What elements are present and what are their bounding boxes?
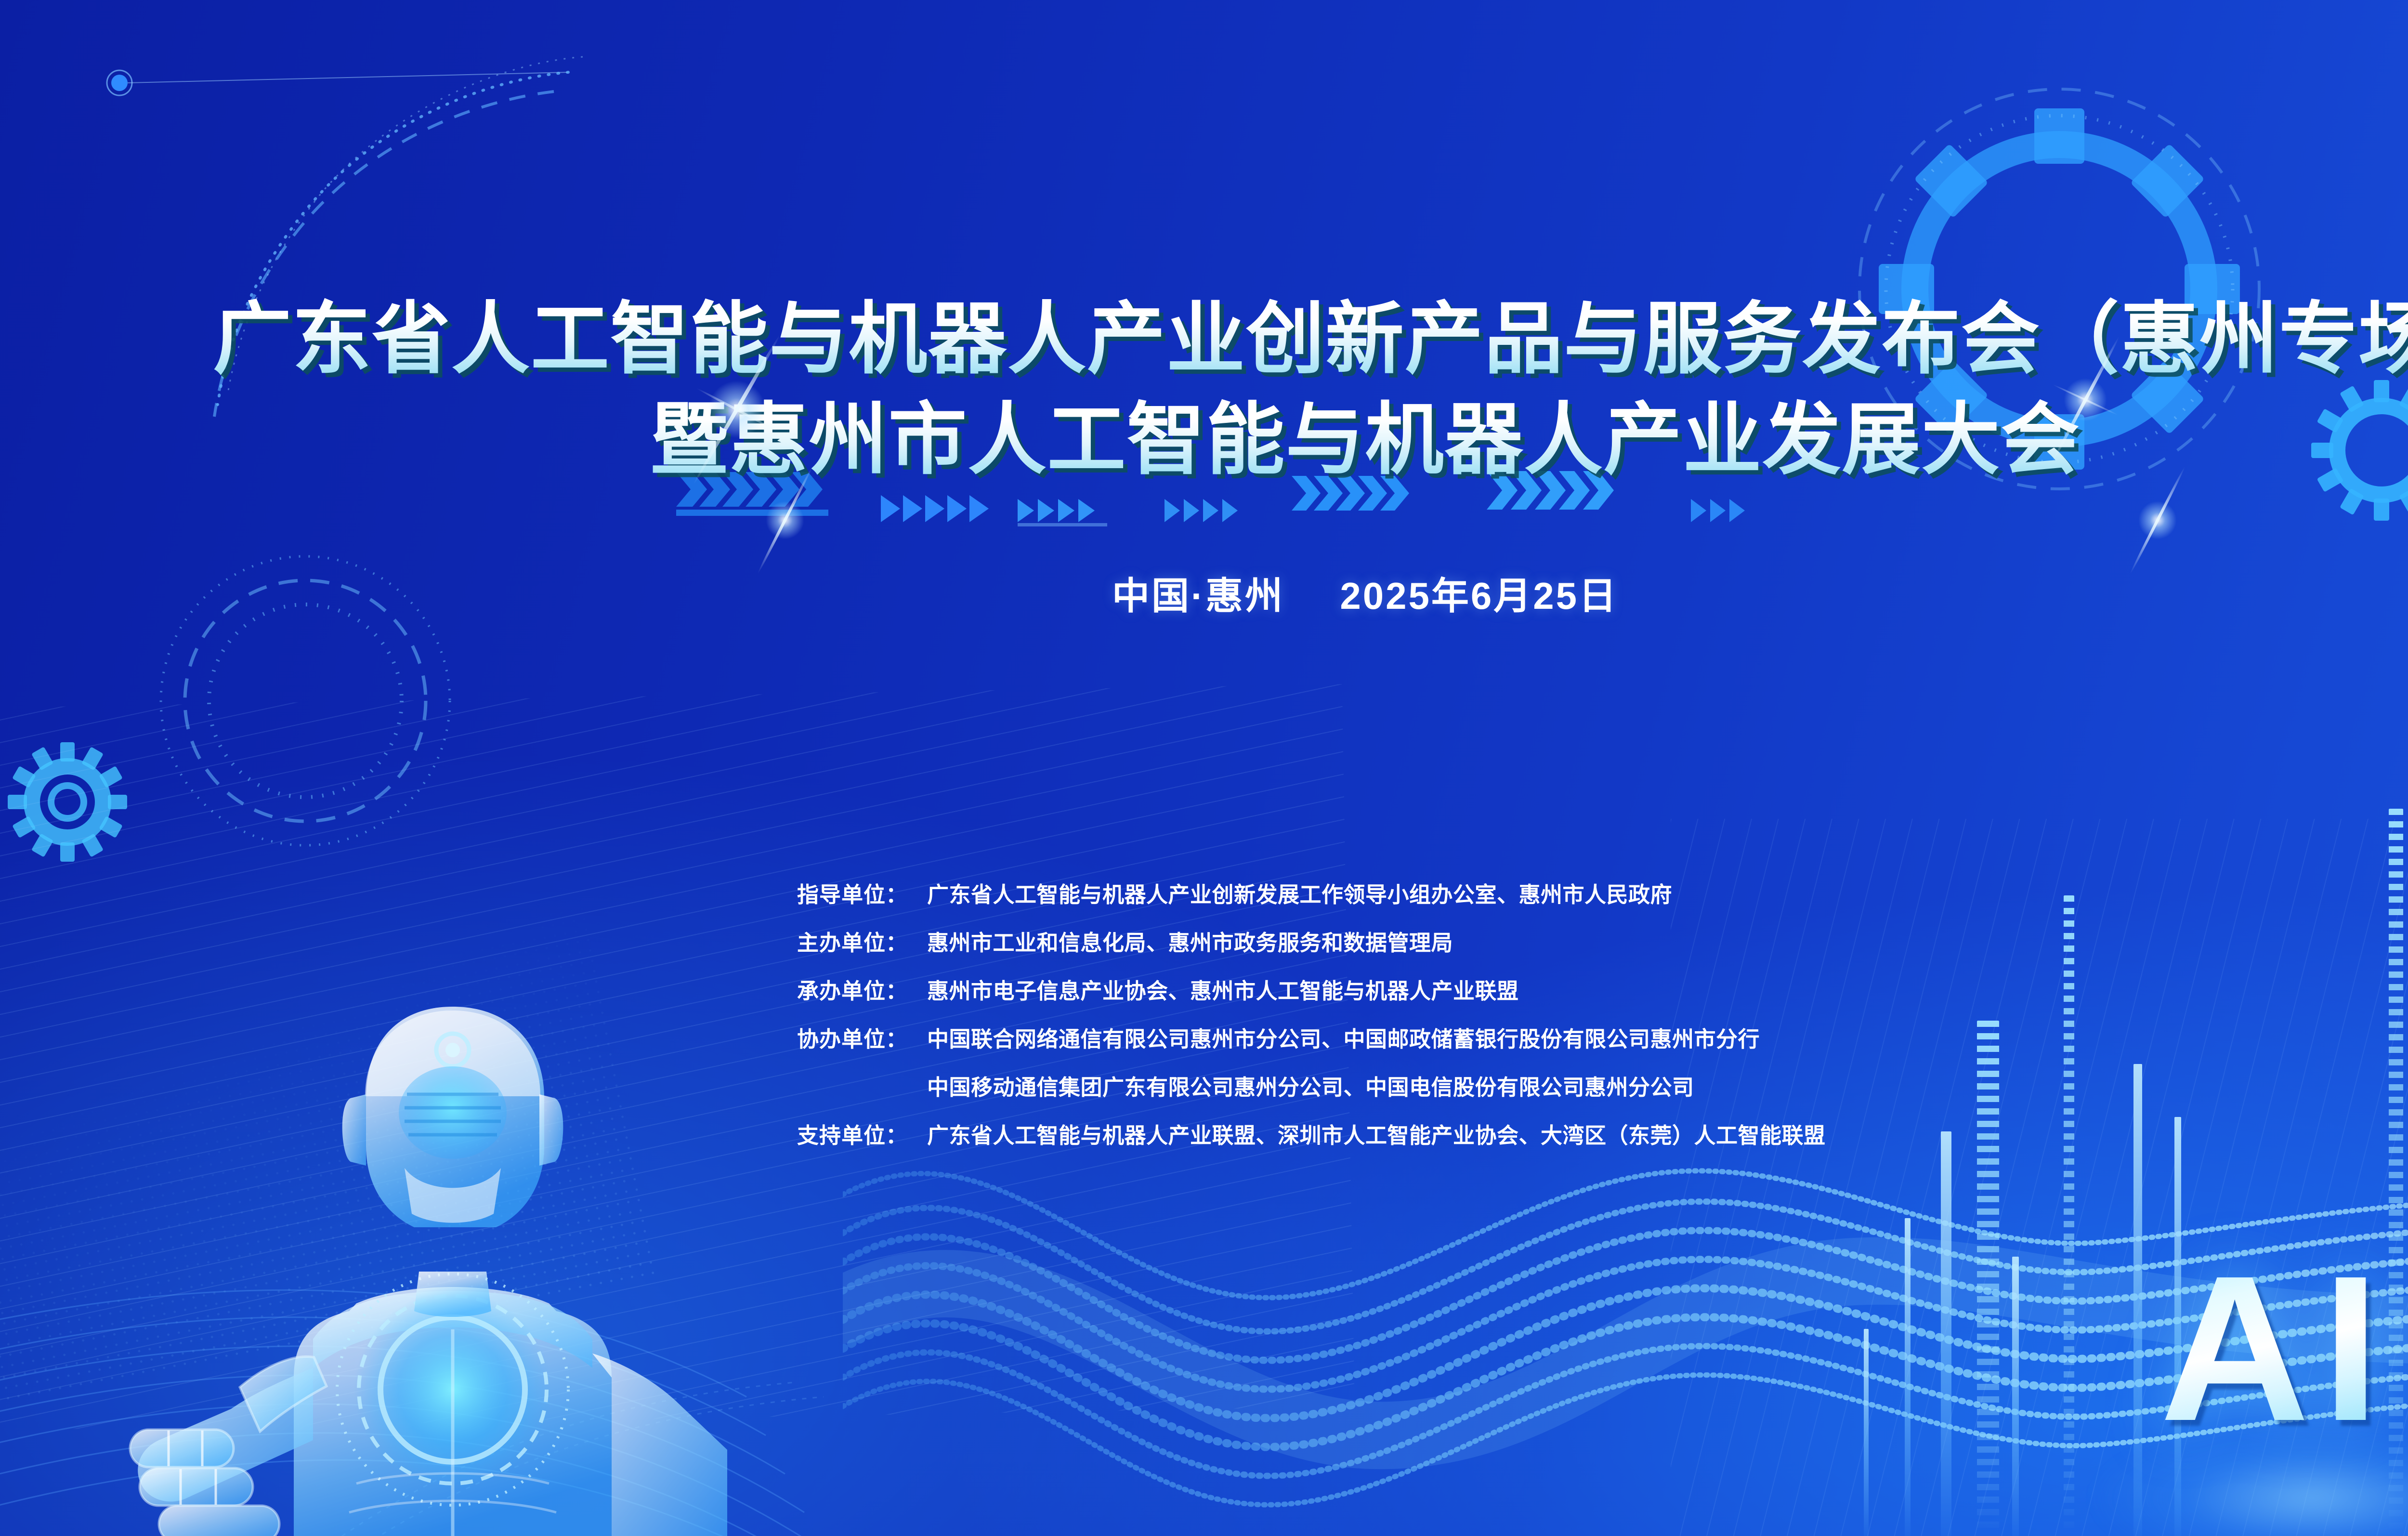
triangle-arrow-icon	[1165, 496, 1290, 530]
credit-value: 中国移动通信集团广东有限公司惠州分公司、中国电信股份有限公司惠州分公司	[927, 1077, 1694, 1098]
poster-canvas: AI 广东省人工智能与机器人产业创新产品与服务发布会（惠州专场） 暨惠州市人工智…	[0, 0, 2408, 1536]
credit-value: 广东省人工智能与机器人产业创新发展工作领导小组办公室、惠州市人民政府	[927, 884, 1672, 906]
triangle-arrow-icon	[1018, 496, 1162, 530]
credit-row: 协办单位：中国联合网络通信有限公司惠州市分公司、中国邮政储蓄银行股份有限公司惠州…	[797, 1028, 1826, 1050]
credit-label: 协办单位：	[797, 1028, 927, 1050]
credit-label: 承办单位：	[797, 980, 927, 1002]
credit-value: 惠州市工业和信息化局、惠州市政务服务和数据管理局	[927, 932, 1453, 954]
credit-label: 支持单位：	[797, 1125, 927, 1146]
gear-icon	[0, 735, 135, 869]
title-block: 广东省人工智能与机器人产业创新产品与服务发布会（惠州专场） 暨惠州市人工智能与机…	[0, 289, 2408, 490]
credit-label: 指导单位：	[797, 884, 927, 906]
credit-row: 协办单位：中国移动通信集团广东有限公司惠州分公司、中国电信股份有限公司惠州分公司	[797, 1077, 1826, 1098]
credit-row: 承办单位：惠州市电子信息产业协会、惠州市人工智能与机器人产业联盟	[797, 980, 1826, 1002]
subtitle-location: 中国·惠州	[1112, 575, 1284, 617]
credit-label: 主办单位：	[797, 932, 927, 954]
credit-row: 支持单位：广东省人工智能与机器人产业联盟、深圳市人工智能产业协会、大湾区（东莞）…	[797, 1125, 1826, 1146]
credits-block: 指导单位：广东省人工智能与机器人产业创新发展工作领导小组办公室、惠州市人民政府主…	[797, 884, 1826, 1173]
page-title-line-2: 暨惠州市人工智能与机器人产业发展大会	[0, 390, 2408, 490]
triangle-arrow-icon	[881, 491, 1016, 530]
humanoid-robot-figure	[87, 906, 737, 1536]
triangle-arrow-icon	[1691, 496, 1816, 530]
credit-value: 广东省人工智能与机器人产业联盟、深圳市人工智能产业协会、大湾区（东莞）人工智能联…	[927, 1125, 1826, 1146]
credit-row: 指导单位：广东省人工智能与机器人产业创新发展工作领导小组办公室、惠州市人民政府	[797, 884, 1826, 906]
subtitle-line: 中国·惠州 2025年6月25日	[0, 566, 2408, 620]
credit-value: 惠州市电子信息产业协会、惠州市人工智能与机器人产业联盟	[927, 980, 1519, 1002]
ai-logo: AI	[2160, 1262, 2392, 1436]
credit-row: 主办单位：惠州市工业和信息化局、惠州市政务服务和数据管理局	[797, 932, 1826, 954]
credit-value: 中国联合网络通信有限公司惠州市分公司、中国邮政储蓄银行股份有限公司惠州市分行	[927, 1028, 1760, 1050]
subtitle-date: 2025年6月25日	[1340, 575, 1618, 617]
page-title-line-1: 广东省人工智能与机器人产业创新产品与服务发布会（惠州专场）	[0, 289, 2408, 390]
